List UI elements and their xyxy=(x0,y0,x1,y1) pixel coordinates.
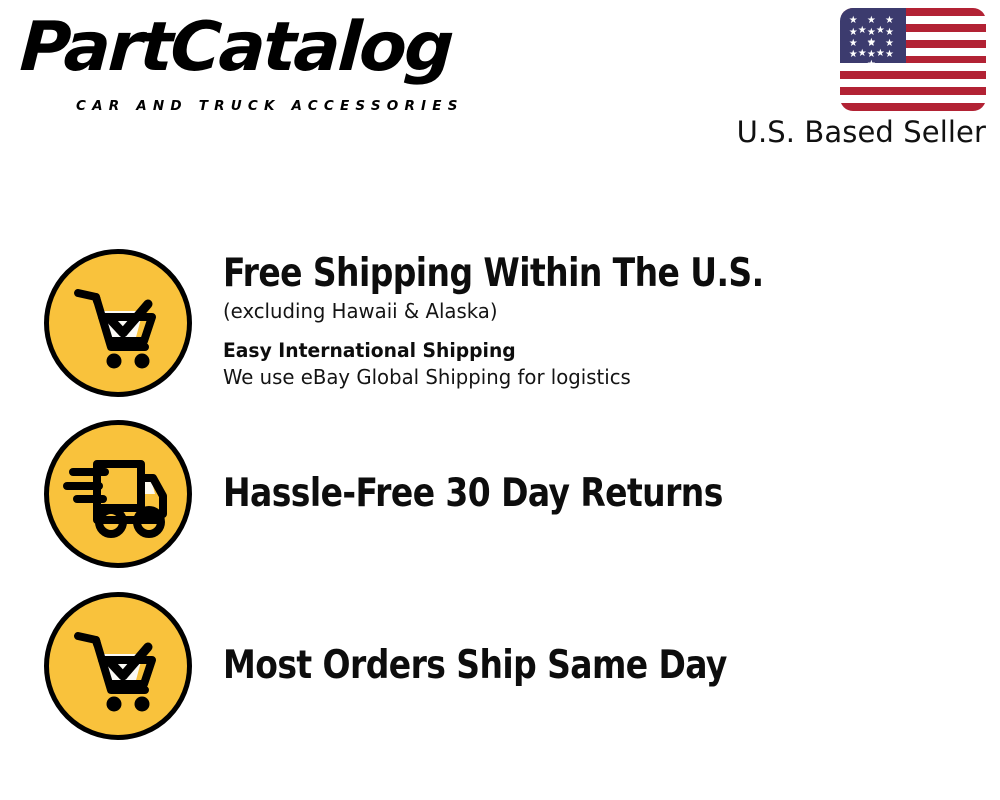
feature-icon-wrap xyxy=(40,592,196,740)
brand-wordmark: PartCatalog xyxy=(18,14,453,82)
feature-row: Hassle-Free 30 Day Returns xyxy=(0,415,1000,573)
brand-tagline: CAR AND TRUCK ACCESSORIES xyxy=(76,98,464,114)
us-based-seller-badge: ★ ★ ★ ★ ★ ★ ★ ★ ★ ★ ★ ★ ★ ★ ★ ★ ★ ★ U.S.… xyxy=(716,8,986,149)
flag-canton: ★ ★ ★ ★ ★ ★ ★ ★ ★ ★ ★ ★ ★ ★ ★ ★ ★ ★ xyxy=(840,8,906,63)
feature-text-block: Hassle-Free 30 Day Returns xyxy=(196,473,1000,514)
brand-logo[interactable]: PartCatalog CAR AND TRUCK ACCESSORIES xyxy=(22,18,492,118)
feature-title: Free Shipping Within The U.S. xyxy=(223,253,953,294)
seller-badge-label: U.S. Based Seller xyxy=(716,115,986,149)
feature-title: Hassle-Free 30 Day Returns xyxy=(223,473,953,514)
page-header: PartCatalog CAR AND TRUCK ACCESSORIES ★ … xyxy=(0,0,1000,170)
feature-row: Most Orders Ship Same Day xyxy=(0,587,1000,745)
feature-text-block: Free Shipping Within The U.S. (excluding… xyxy=(196,253,1000,392)
feature-subtext: We use eBay Global Shipping for logistic… xyxy=(223,364,969,392)
shopping-cart-check-icon xyxy=(44,249,192,397)
feature-icon-wrap xyxy=(40,249,196,397)
fast-delivery-truck-icon xyxy=(44,420,192,568)
feature-text-block: Most Orders Ship Same Day xyxy=(196,645,1000,686)
feature-title: Most Orders Ship Same Day xyxy=(223,645,953,686)
us-flag-icon: ★ ★ ★ ★ ★ ★ ★ ★ ★ ★ ★ ★ ★ ★ ★ ★ ★ ★ xyxy=(840,8,986,111)
feature-row: Free Shipping Within The U.S. (excluding… xyxy=(0,240,1000,405)
feature-subhead: Easy International Shipping xyxy=(223,338,969,363)
feature-icon-wrap xyxy=(40,420,196,568)
feature-note: (excluding Hawaii & Alaska) xyxy=(223,298,969,326)
shopping-cart-check-icon xyxy=(44,592,192,740)
